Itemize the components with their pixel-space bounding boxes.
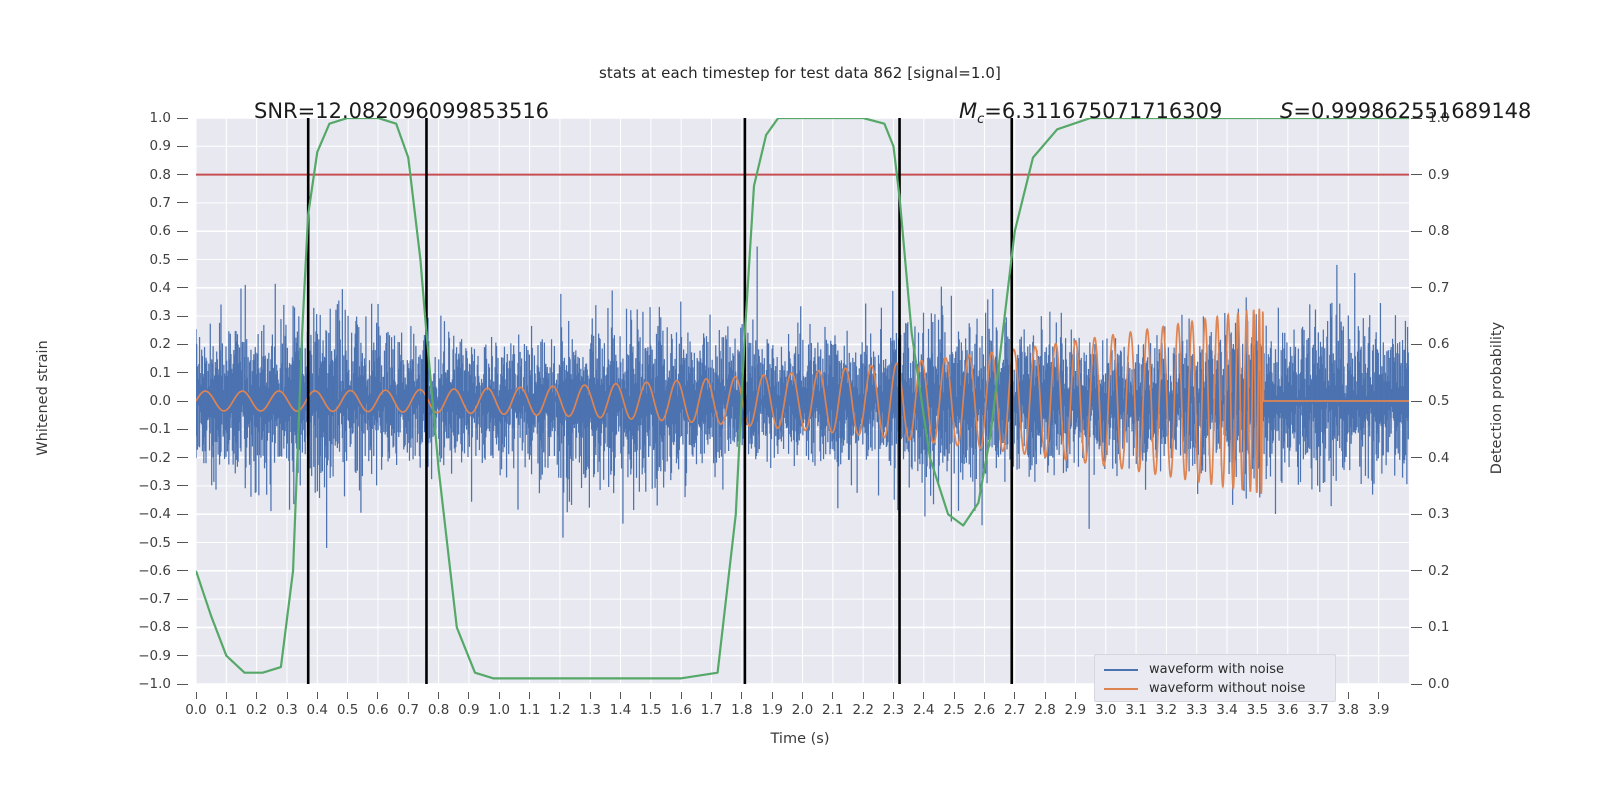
annotation-s-equals: =: [1293, 99, 1311, 123]
legend-label-noise: waveform with noise: [1149, 662, 1284, 677]
plot-area: [196, 118, 1409, 684]
y-tick-right: 0.2: [1411, 563, 1531, 579]
legend-item-noise: waveform with noise: [1104, 660, 1326, 679]
x-tick: 3.9: [1349, 692, 1409, 718]
y-tick-left: −0.3: [68, 478, 188, 494]
y-tick-left: −1.0: [68, 676, 188, 692]
y-axis-label-left: Whitened strain: [35, 278, 51, 518]
y-tick-left: −0.7: [68, 591, 188, 607]
y-tick-right: 0.1: [1411, 619, 1531, 635]
legend-swatch-noise: [1104, 669, 1138, 671]
y-tick-right: 0.4: [1411, 450, 1531, 466]
y-tick-left: −0.8: [68, 619, 188, 635]
y-tick-left: 0.9: [68, 138, 188, 154]
plot-svg: [196, 118, 1409, 684]
annotation-chirp-mass: Mc=6.311675071716309: [959, 99, 1222, 127]
y-tick-left: −0.4: [68, 506, 188, 522]
annotation-mc-value: 6.311675071716309: [1002, 99, 1222, 123]
annotation-s-value: 0.999862551689148: [1311, 99, 1531, 123]
annotation-snr-prefix: SNR=: [254, 99, 315, 123]
legend-label-clean: waveform without noise: [1149, 681, 1305, 696]
legend: waveform with noise waveform without noi…: [1094, 654, 1336, 702]
y-tick-left: 0.1: [68, 365, 188, 381]
figure-canvas: stats at each timestep for test data 862…: [0, 0, 1600, 800]
y-tick-left: −0.2: [68, 450, 188, 466]
y-tick-right: 0.0: [1411, 676, 1531, 692]
annotation-score: S=0.999862551689148: [1280, 99, 1531, 123]
y-tick-right: 0.3: [1411, 506, 1531, 522]
y-tick-left: −0.9: [68, 648, 188, 664]
y-tick-left: −0.5: [68, 535, 188, 551]
y-tick-left: 0.6: [68, 223, 188, 239]
y-tick-right: 0.9: [1411, 167, 1531, 183]
annotation-snr: SNR=12.082096099853516: [254, 99, 549, 123]
y-tick-right: 0.8: [1411, 223, 1531, 239]
annotation-snr-value: 12.082096099853516: [315, 99, 549, 123]
annotation-mc-symbol: M: [959, 99, 977, 123]
y-tick-right: 0.7: [1411, 280, 1531, 296]
y-tick-left: 0.4: [68, 280, 188, 296]
y-tick-left: −0.1: [68, 421, 188, 437]
y-tick-left: 0.3: [68, 308, 188, 324]
y-tick-left: −0.6: [68, 563, 188, 579]
page-title: stats at each timestep for test data 862…: [0, 64, 1600, 82]
annotation-mc-equals: =: [984, 99, 1002, 123]
y-tick-left: 0.0: [68, 393, 188, 409]
y-tick-left: 0.8: [68, 167, 188, 183]
y-tick-right: 0.5: [1411, 393, 1531, 409]
x-axis-label: Time (s): [0, 731, 1600, 747]
y-tick-left: 0.7: [68, 195, 188, 211]
y-tick-left: 1.0: [68, 110, 188, 126]
legend-item-clean: waveform without noise: [1104, 679, 1326, 698]
y-tick-right: 0.6: [1411, 336, 1531, 352]
y-tick-left: 0.2: [68, 336, 188, 352]
y-tick-left: 0.5: [68, 252, 188, 268]
annotation-s-symbol: S: [1280, 99, 1293, 123]
legend-swatch-clean: [1104, 688, 1138, 690]
